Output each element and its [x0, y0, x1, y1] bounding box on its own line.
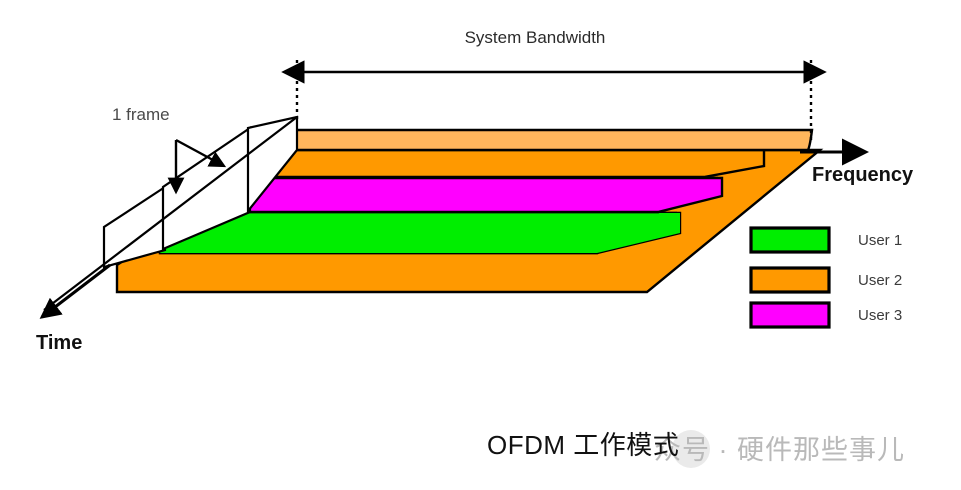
legend-label-user-2: User 2 [858, 272, 902, 289]
frame-label: 1 frame [112, 105, 170, 124]
slab-user1-fill [160, 213, 680, 253]
legend-item-user-3[interactable]: User 3 [751, 303, 902, 327]
slab-user2-top [249, 130, 812, 177]
frequency-axis: Frequency [800, 152, 914, 186]
time-arrow [42, 265, 110, 317]
slab-stack [44, 117, 820, 310]
slab-user2-top-side [249, 150, 764, 177]
slab-user2-top-face [290, 130, 812, 150]
watermark-text: 众号 · 硬件那些事儿 [654, 428, 905, 467]
diagram-canvas: System Bandwidth 1 frame Frequency Time … [0, 0, 961, 490]
legend-label-user-3: User 3 [858, 307, 902, 324]
frequency-label: Frequency [812, 164, 914, 186]
legend: User 1 User 2 User 3 [751, 228, 902, 327]
system-bandwidth-label: System Bandwidth [465, 28, 606, 47]
time-axis: Time [36, 265, 110, 354]
system-bandwidth-dimension: System Bandwidth [297, 28, 811, 140]
legend-label-user-1: User 1 [858, 232, 902, 249]
legend-item-user-2[interactable]: User 2 [751, 268, 902, 292]
legend-swatch-user-3 [751, 303, 829, 327]
time-label: Time [36, 332, 82, 354]
legend-swatch-user-2 [751, 268, 829, 292]
legend-swatch-user-1 [751, 228, 829, 252]
figure-caption: OFDM 工作模式 [487, 425, 679, 462]
ofdm-figure: System Bandwidth 1 frame Frequency Time … [0, 0, 961, 490]
legend-item-user-1[interactable]: User 1 [751, 228, 902, 252]
slab-user3-side [206, 178, 722, 212]
